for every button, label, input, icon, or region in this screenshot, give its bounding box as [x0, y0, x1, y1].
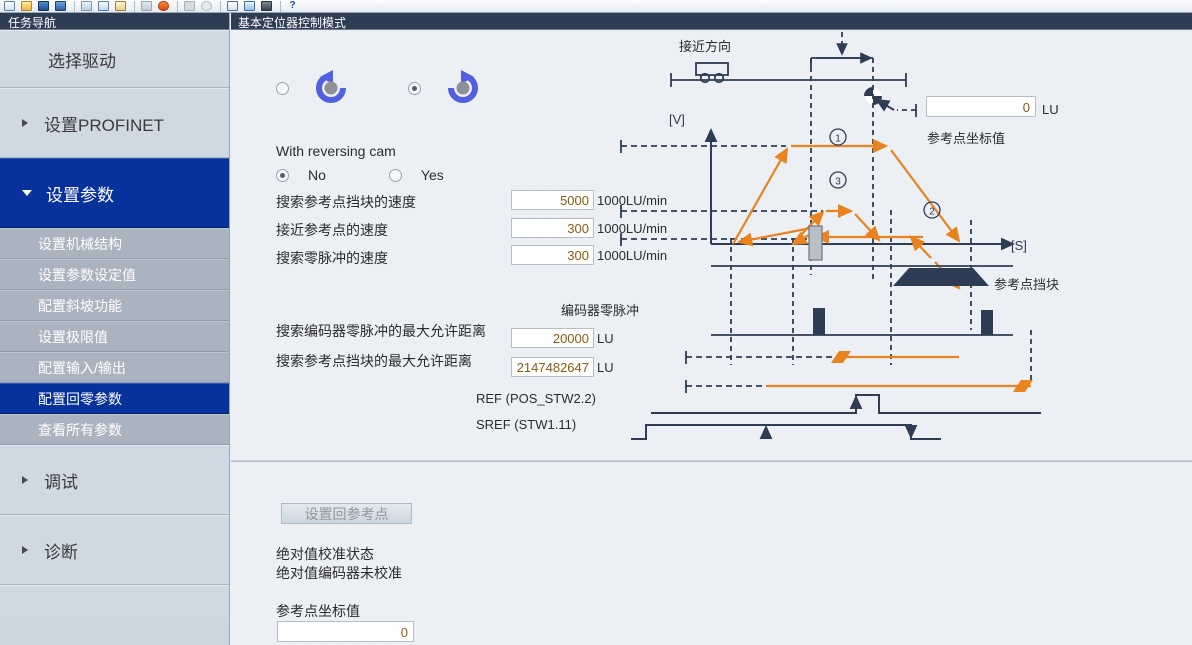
sidebar-item-homing[interactable]: 配置回零参数: [0, 383, 229, 414]
table-icon[interactable]: [225, 0, 240, 12]
field-label-zero-pulse-speed: 搜索零脉冲的速度: [276, 248, 388, 268]
sidebar-item-label: 设置PROFINET: [44, 111, 164, 136]
check-icon[interactable]: [242, 0, 257, 12]
sidebar-item-ramp[interactable]: 配置斜坡功能: [0, 290, 229, 321]
hand-icon[interactable]: [259, 0, 274, 12]
field-label-max-cam-distance: 搜索参考点挡块的最大允许距离: [276, 351, 472, 371]
sidebar-item-diagnostics[interactable]: 诊断: [0, 515, 229, 585]
chevron-right-icon: [22, 546, 28, 554]
toolbar-separator: [134, 1, 135, 12]
rotate-clockwise-icon[interactable]: [440, 68, 486, 108]
rom-icon: [182, 0, 197, 12]
svg-text:1: 1: [835, 134, 841, 145]
homing-action-area: 设置回参考点 绝对值校准状态 绝对值编码器未校准 参考点坐标值 0: [231, 462, 1192, 643]
sidebar-item-limits[interactable]: 设置极限值: [0, 321, 229, 352]
field-label-max-zero-pulse-distance: 搜索编码器零脉冲的最大允许距离: [276, 321, 486, 341]
svg-text:3: 3: [835, 177, 841, 188]
sidebar-item-io[interactable]: 配置输入/输出: [0, 352, 229, 383]
sidebar-item-label: 诊断: [44, 538, 78, 563]
print-icon[interactable]: [53, 0, 68, 12]
sidebar-item-select-drive[interactable]: 选择驱动: [0, 30, 229, 88]
application-window: ? 任务导航 选择驱动 设置PROFINET 设置参数 设置机械结构 设置参数设…: [0, 0, 1192, 645]
toolbar: ?: [0, 0, 1192, 13]
chevron-right-icon: [22, 119, 28, 127]
field-value-max-cam-distance[interactable]: 2147482647: [511, 357, 594, 377]
sidebar-header: 任务导航: [0, 13, 229, 30]
help-icon[interactable]: ?: [285, 0, 300, 12]
radio-cam-yes-label: Yes: [421, 167, 444, 183]
sidebar-filler: [0, 585, 229, 617]
diagram-ref-coord-input[interactable]: 0: [926, 96, 1036, 117]
toolbar-separator: [177, 1, 178, 12]
radio-cam-no[interactable]: [276, 169, 289, 182]
absolute-calibration-status-value: 绝对值编码器未校准: [276, 563, 402, 583]
diagram-sref-signal-label: SREF (STW1.11): [476, 417, 576, 432]
diagram-encoder-zero-pulse-label: 编码器零脉冲: [561, 300, 639, 319]
diagram-ref-signal-label: REF (POS_STW2.2): [476, 391, 596, 406]
toolbar-separator: [220, 1, 221, 12]
absolute-calibration-status-label: 绝对值校准状态: [276, 544, 374, 564]
toolbar-separator: [74, 1, 75, 12]
radio-direction-ccw[interactable]: [276, 82, 289, 95]
set-homing-button[interactable]: 设置回参考点: [281, 503, 412, 524]
toolbar-separator: [280, 1, 281, 12]
new-file-icon[interactable]: [2, 0, 17, 12]
homing-sequence-diagram: 1 2 3 接近方向 [V] [S] 0 LU 参考点坐标值 编码器零脉冲 参考…: [611, 30, 1191, 442]
rotate-counterclockwise-icon[interactable]: [308, 68, 354, 108]
chevron-right-icon: [22, 476, 28, 484]
reference-coordinate-label: 参考点坐标值: [276, 601, 360, 621]
save-icon[interactable]: [36, 0, 51, 12]
sidebar-item-label: 设置参数设定值: [38, 265, 136, 285]
sidebar-item-profinet[interactable]: 设置PROFINET: [0, 88, 229, 158]
reference-coordinate-input[interactable]: 0: [277, 621, 414, 642]
undo-icon: [139, 0, 154, 12]
sidebar-item-label: 设置极限值: [38, 327, 108, 347]
reversing-cam-options: No Yes: [276, 167, 444, 183]
panel-title: 基本定位器控制模式: [231, 13, 1192, 30]
copy-icon[interactable]: [96, 0, 111, 12]
sidebar-item-label: 配置回零参数: [38, 389, 122, 409]
sidebar-item-setpoint[interactable]: 设置参数设定值: [0, 259, 229, 290]
diagram-ref-coord-label: 参考点坐标值: [927, 128, 1005, 147]
field-value-max-zero-pulse-distance[interactable]: 20000: [511, 328, 594, 348]
task-navigation-sidebar: 任务导航 选择驱动 设置PROFINET 设置参数 设置机械结构 设置参数设定值…: [0, 13, 230, 645]
field-value-search-cam-speed[interactable]: 5000: [511, 190, 594, 210]
sidebar-item-label: 查看所有参数: [38, 420, 122, 440]
field-value-approach-speed[interactable]: 300: [511, 218, 594, 238]
radio-cam-no-label: No: [308, 167, 326, 183]
cut-icon[interactable]: [79, 0, 94, 12]
field-label-search-cam-speed: 搜索参考点挡块的速度: [276, 192, 416, 212]
chevron-down-icon: [22, 190, 32, 196]
sidebar-item-label: 配置输入/输出: [38, 358, 126, 378]
paste-icon[interactable]: [113, 0, 128, 12]
radio-direction-cw[interactable]: [408, 82, 421, 95]
direction-selector: [276, 68, 540, 108]
open-folder-icon[interactable]: [19, 0, 34, 12]
diagram-v-axis-label: [V]: [669, 112, 685, 127]
svg-text:2: 2: [929, 207, 935, 218]
sidebar-item-mechanics[interactable]: 设置机械结构: [0, 228, 229, 259]
diagram-approach-direction-label: 接近方向: [679, 36, 731, 55]
sidebar-item-label: 配置斜坡功能: [38, 296, 122, 316]
sidebar-item-label: 调试: [44, 468, 78, 493]
reversing-cam-title: With reversing cam: [276, 143, 396, 159]
diagram-ref-cam-label: 参考点挡块: [994, 274, 1059, 293]
sidebar-item-label: 选择驱动: [48, 47, 116, 72]
sidebar-item-set-parameters[interactable]: 设置参数: [0, 158, 229, 228]
field-label-approach-speed: 接近参考点的速度: [276, 220, 388, 240]
sidebar-item-all-params[interactable]: 查看所有参数: [0, 414, 229, 445]
field-value-zero-pulse-speed[interactable]: 300: [511, 245, 594, 265]
main-panel: 基本定位器控制模式: [231, 13, 1192, 645]
homing-settings-area: With reversing cam No Yes 搜索参考点挡块的速度 500…: [231, 30, 1192, 460]
diagram-ref-coord-unit: LU: [1042, 102, 1059, 117]
refresh-icon: [199, 0, 214, 12]
sidebar-item-commissioning[interactable]: 调试: [0, 445, 229, 515]
radio-cam-yes[interactable]: [389, 169, 402, 182]
sidebar-item-label: 设置机械结构: [38, 234, 122, 254]
redo-arrow-icon[interactable]: [156, 0, 171, 12]
sidebar-item-label: 设置参数: [46, 181, 114, 206]
diagram-s-axis-label: [S]: [1011, 238, 1027, 253]
